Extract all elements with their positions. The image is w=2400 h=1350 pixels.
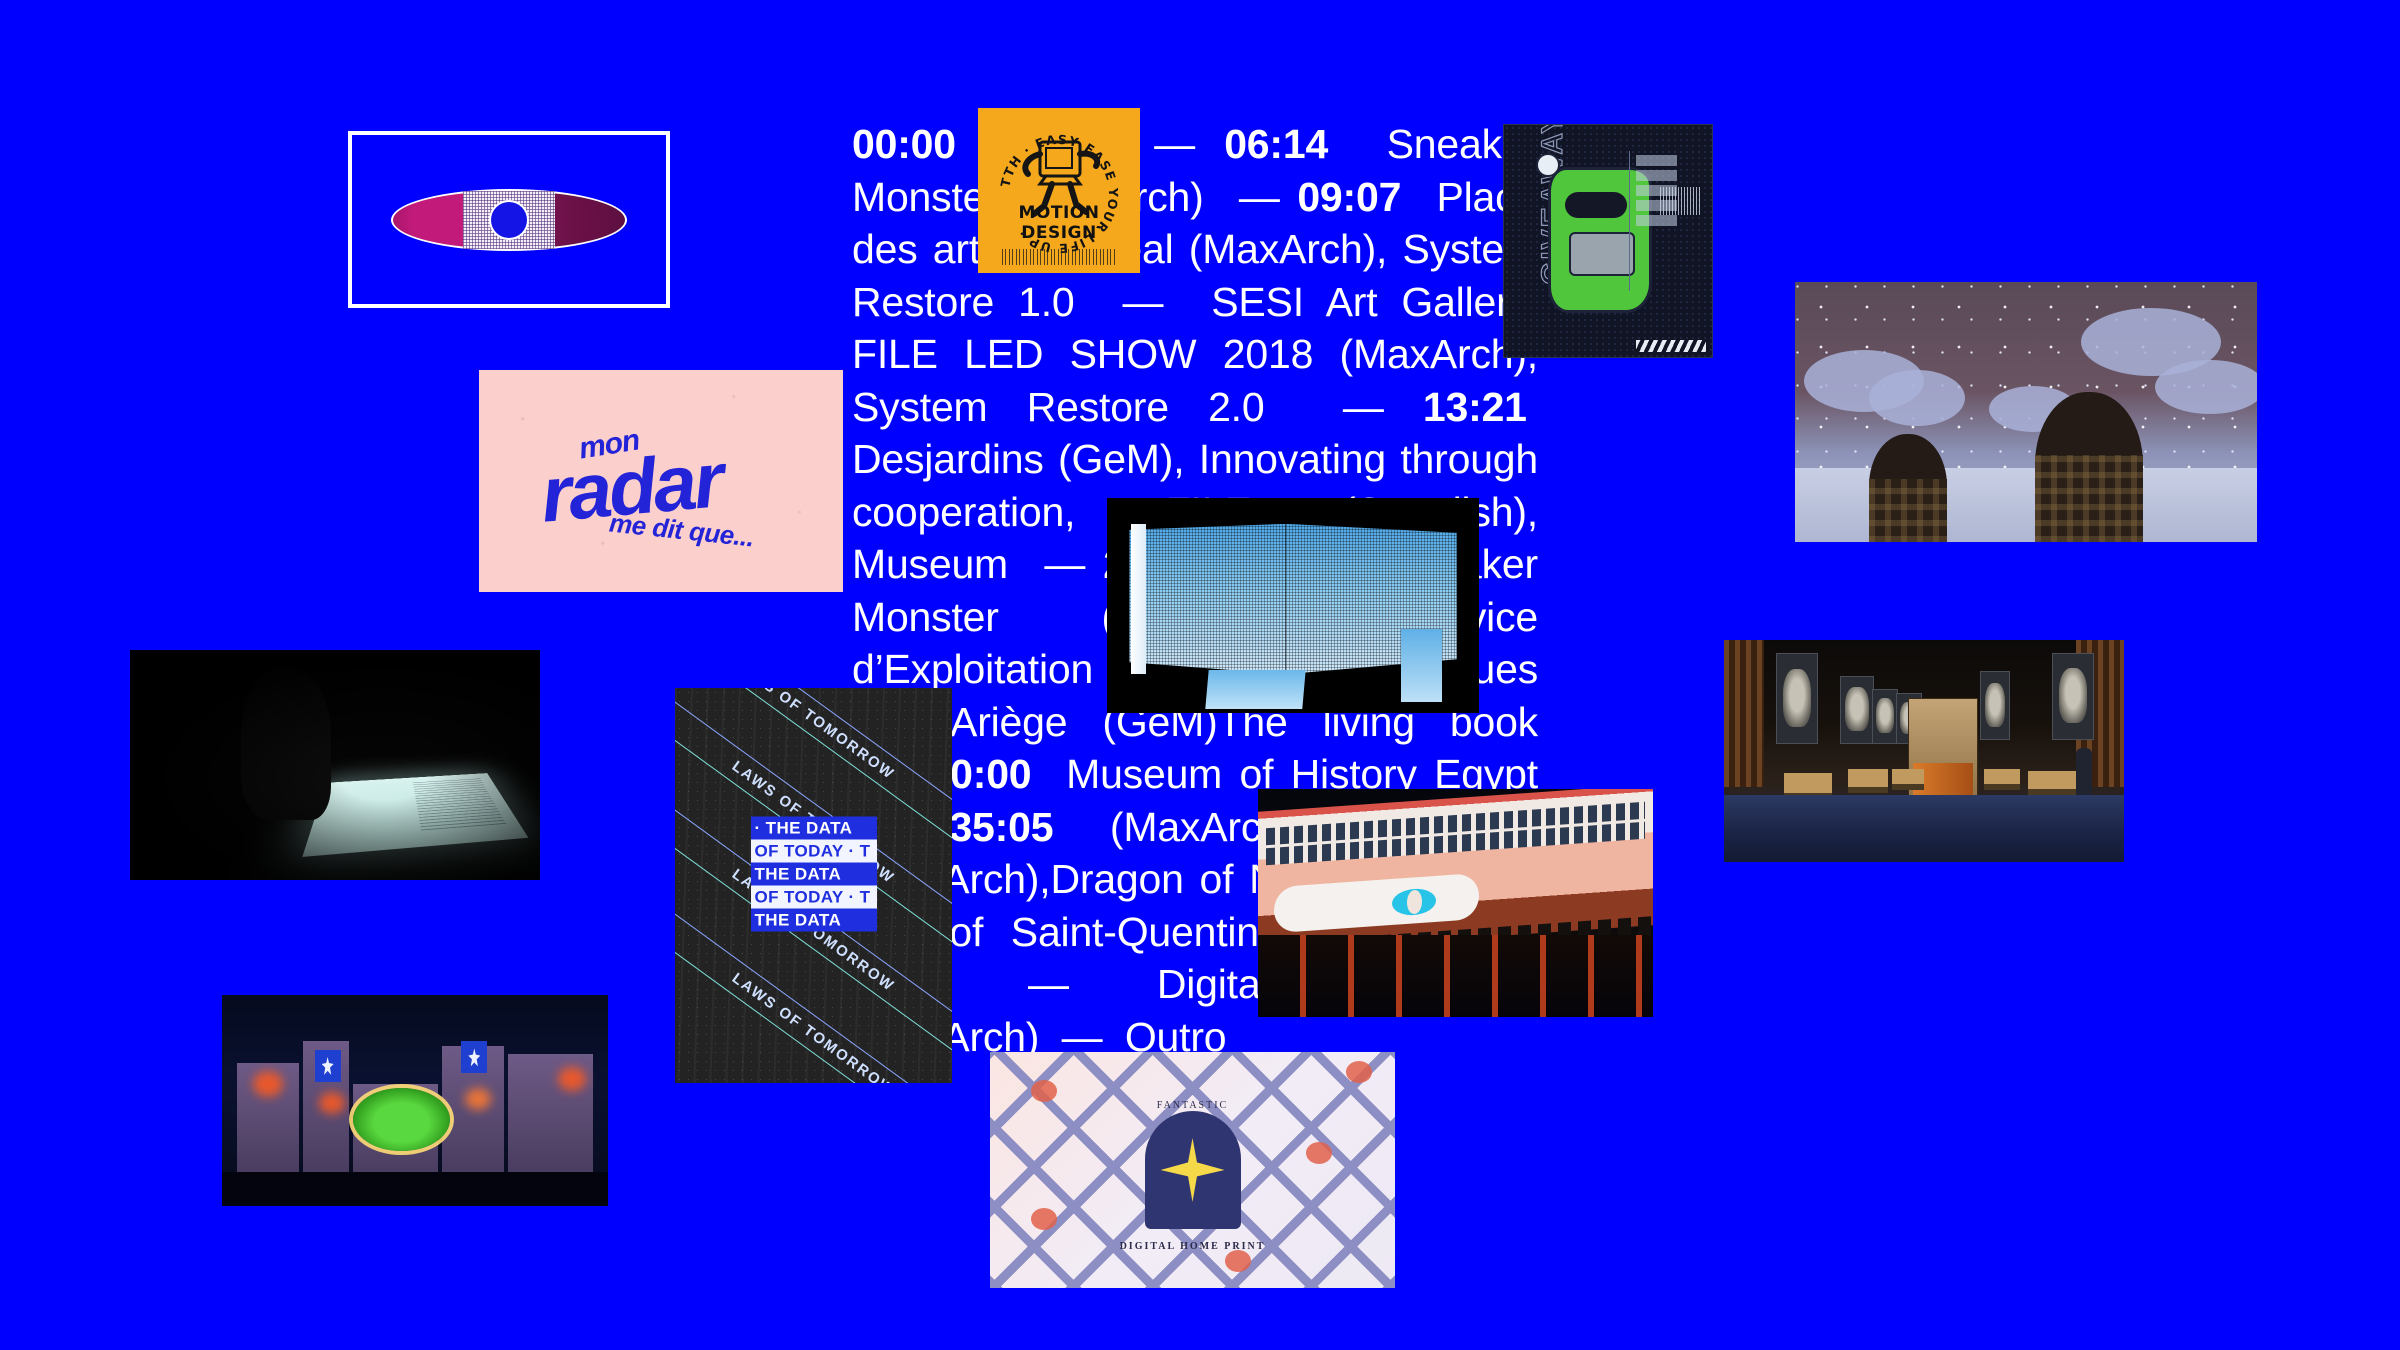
display-case — [1984, 769, 2020, 785]
museum-exhibition-photo[interactable] — [1724, 640, 2124, 862]
fantastic-bottom-text: DIGITAL HOME PRINT — [990, 1241, 1395, 1252]
vertical-screen — [1401, 629, 1442, 702]
castle-base — [222, 1172, 608, 1206]
projection-glow — [465, 1088, 491, 1110]
projection-glow — [319, 1092, 345, 1114]
eye-icon — [391, 189, 627, 251]
chapter-time: 13:21 — [1423, 384, 1527, 430]
barcode-strip — [1002, 249, 1116, 265]
chapter-separator: — — [1239, 174, 1280, 220]
eye-graphic-card[interactable] — [348, 131, 670, 308]
stack-line: THE DATA — [751, 908, 877, 931]
spec-row — [1636, 155, 1704, 166]
display-case — [1784, 773, 1832, 793]
fleur-de-lis-flag — [315, 1050, 341, 1082]
print-motif — [1306, 1142, 1332, 1164]
display-case — [1848, 769, 1888, 787]
dragon-projection — [353, 1088, 450, 1151]
hanging-banner — [1872, 689, 1898, 744]
hazard-stripes — [1636, 340, 1706, 352]
hanging-banner — [1776, 653, 1818, 744]
spec-panel — [1629, 151, 1704, 291]
print-motif — [1225, 1250, 1251, 1272]
mon-radar-poster[interactable]: mon radar me dit que... — [479, 370, 843, 592]
chapter-time: 06:14 — [1224, 121, 1328, 167]
led-edge-strip — [1131, 524, 1146, 675]
stack-line: · THE DATA — [751, 816, 877, 839]
snow-ground — [1795, 468, 2257, 542]
fleur-de-lis-flag — [461, 1041, 487, 1073]
viewer-silhouette — [2035, 392, 2143, 542]
hanging-banner — [1840, 676, 1874, 745]
easy-ease-poster[interactable]: TTH · EASY EASE YOUR LIFE UP · MOTION DE… — [978, 108, 1140, 273]
spec-row — [1636, 170, 1704, 181]
stack-line: OF TODAY · T — [751, 839, 877, 862]
spec-row — [1636, 215, 1704, 226]
digital-home-print-photo[interactable]: FANTASTIC DIGITAL HOME PRINT — [990, 1052, 1395, 1288]
chapter-separator: — — [1028, 961, 1069, 1007]
collage-canvas: 00:00 Intro — 06:14 Sneaker Monster (Max… — [0, 0, 2400, 1350]
print-motif — [1031, 1208, 1057, 1230]
chapter-separator: — — [1154, 121, 1195, 167]
projection-glow — [253, 1071, 283, 1097]
stack-line: OF TODAY · T — [751, 885, 877, 908]
fantastic-top-text: FANTASTIC — [990, 1100, 1395, 1111]
chapter-time: 09:07 — [1297, 174, 1401, 220]
chapter-time: 35:05 — [949, 804, 1053, 850]
laws-of-tomorrow-banner[interactable]: LAWS OF TOMORROW LAWS OF TOMORROW LAWS O… — [675, 688, 952, 1083]
projection-glow — [558, 1067, 586, 1091]
print-motif — [1031, 1080, 1057, 1102]
sneaker-monster-card[interactable]: GIVEAWAY — [1503, 124, 1713, 358]
chapter-separator: — — [1123, 279, 1164, 325]
stack-line: THE DATA — [751, 862, 877, 885]
viewer-silhouette — [1869, 434, 1947, 542]
curtain — [1724, 640, 1764, 787]
dragon-of-niort-photo[interactable] — [222, 995, 608, 1206]
arch-structure — [1258, 935, 1653, 1017]
facade-projection-photo[interactable] — [1258, 789, 1653, 1017]
floor-screen — [1206, 670, 1306, 709]
cloud-shape — [2155, 360, 2257, 414]
hanging-banner — [1980, 671, 2010, 740]
chapter-separator: — — [1044, 541, 1085, 587]
chapter-separator: — — [1343, 384, 1384, 430]
data-of-today-stack: · THE DATA OF TODAY · T THE DATA OF TODA… — [751, 816, 877, 931]
display-case — [1892, 769, 1924, 785]
led-sky-wall-photo[interactable] — [1107, 498, 1479, 713]
cloud-shape — [1869, 370, 1965, 426]
poster-bottom-text: MOTION DESIGN — [978, 203, 1140, 243]
hanging-banner — [2052, 653, 2094, 739]
eye-pupil — [491, 202, 527, 238]
reflective-floor — [1724, 795, 2124, 862]
winter-projection-photo[interactable] — [1795, 282, 2257, 542]
chapter-time: 00:00 — [852, 121, 956, 167]
led-panel-left — [1129, 524, 1285, 675]
qr-code-icon — [1660, 187, 1700, 215]
vignette — [130, 650, 540, 880]
living-book-photo[interactable] — [130, 650, 540, 880]
display-pillar — [1908, 698, 1978, 807]
